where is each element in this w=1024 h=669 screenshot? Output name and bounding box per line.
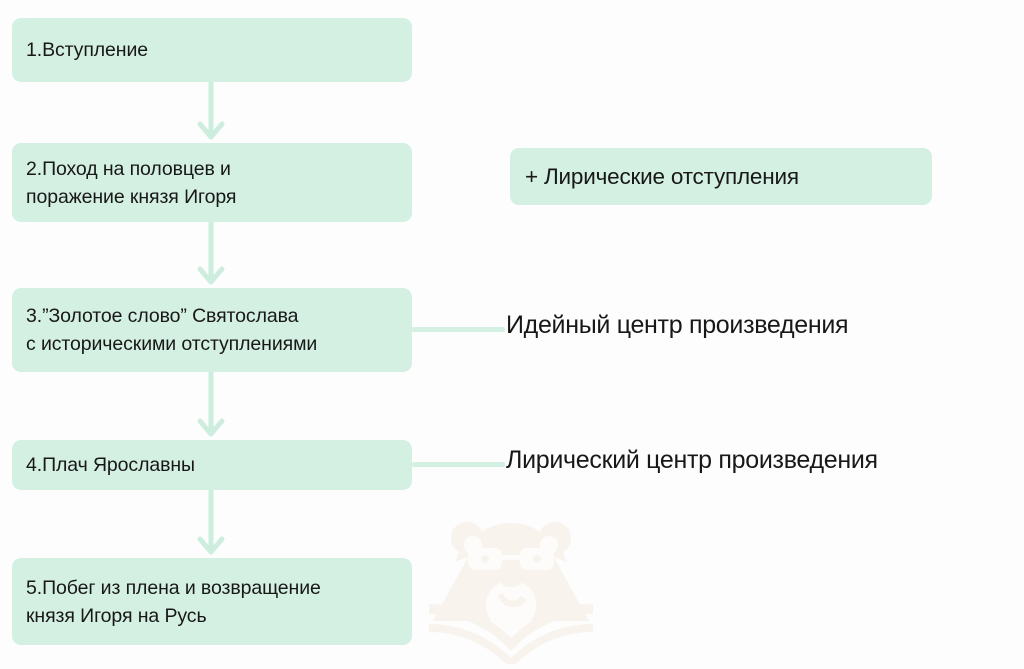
leader-line-step-4 xyxy=(412,462,505,467)
flow-step-box-5: 5.Побег из плена и возвращение князя Иго… xyxy=(12,558,412,645)
flow-step-5-line-2: князя Игоря на Русь xyxy=(26,602,398,630)
lyrical-digressions-note-text: + Лирические отступления xyxy=(525,164,799,190)
lyrical-digressions-note-box: + Лирические отступления xyxy=(510,148,932,205)
side-note-step-4: Лирический центр произведения xyxy=(506,446,878,475)
flow-step-3-line-1: 3.”Золотое слово” Святослава xyxy=(26,302,398,330)
flow-step-1-line-1: 1.Вступление xyxy=(26,36,398,64)
leader-line-step-3 xyxy=(412,327,505,332)
diagram-canvas: 1.Вступление 2.Поход на половцев и пораж… xyxy=(0,0,1024,665)
flow-step-box-3: 3.”Золотое слово” Святослава с историчес… xyxy=(12,288,412,372)
down-arrow-icon-3 xyxy=(196,372,226,440)
down-arrow-icon-4 xyxy=(196,490,226,558)
flow-step-box-4: 4.Плач Ярославны xyxy=(12,440,412,490)
side-note-step-3: Идейный центр произведения xyxy=(506,311,848,340)
flow-step-2-line-1: 2.Поход на половцев и xyxy=(26,155,398,183)
flow-step-box-1: 1.Вступление xyxy=(12,18,412,82)
down-arrow-icon-1 xyxy=(196,82,226,143)
flow-step-5-line-1: 5.Побег из плена и возвращение xyxy=(26,574,398,602)
flow-step-4-line-1: 4.Плач Ярославны xyxy=(26,451,398,479)
flow-step-box-2: 2.Поход на половцев и поражение князя Иг… xyxy=(12,143,412,222)
flow-step-2-line-2: поражение князя Игоря xyxy=(26,183,398,211)
bear-with-glasses-on-book-logo-icon xyxy=(423,492,599,664)
flow-step-3-line-2: с историческими отступлениями xyxy=(26,330,398,358)
down-arrow-icon-2 xyxy=(196,222,226,288)
